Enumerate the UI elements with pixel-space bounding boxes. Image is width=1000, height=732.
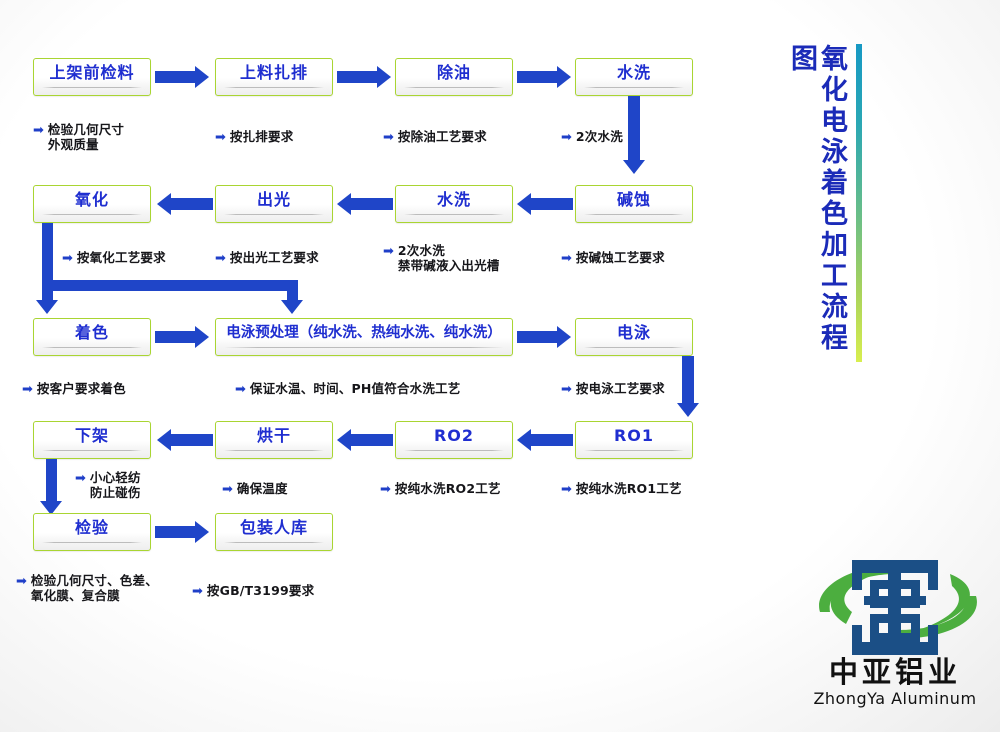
box-underline [584,214,684,215]
arrowhead-yanghua-zhuose [36,300,58,314]
logo-text-en: ZhongYa Aluminum [800,690,990,708]
arrow-bullet-icon: ➡ [380,482,391,497]
note-jianyanjihechicun: ➡ 检验几何尺寸外观质量 [33,122,124,152]
arrow-bullet-icon: ➡ [235,382,246,397]
arrow-bullet-icon: ➡ [75,471,86,486]
process-box-shangjiaqianjianliao[interactable]: 上架前检料 [33,58,151,96]
note-quebaowendu: ➡ 确保温度 [222,481,288,497]
note-text: 按GB/T3199要求 [207,583,314,598]
connector-ro1-ro2 [531,434,573,446]
note-text: 按出光工艺要求 [230,250,319,265]
box-underline [404,87,504,88]
box-label: 氧化 [75,190,109,210]
arrowhead-2-3 [377,66,391,88]
connector-3-4 [517,71,559,83]
process-box-zhuose[interactable]: 着色 [33,318,151,356]
box-label: RO1 [614,426,654,446]
connector-shuixi-jianshi [628,96,640,162]
arrowhead-3-4 [557,66,571,88]
arrow-bullet-icon: ➡ [561,482,572,497]
process-box-dianyong[interactable]: 电泳 [575,318,693,356]
connector-honggan-xiajia [171,434,213,446]
arrowhead-1-2 [195,66,209,88]
note-text: 2次水洗禁带碱液入出光槽 [398,243,500,273]
box-label: 水洗 [617,63,651,83]
note-text: 按纯水洗RO2工艺 [395,481,501,496]
note-anchuyougongyiyaoqiu: ➡ 按除油工艺要求 [383,129,487,145]
arrowhead-jianshi-shuixi2 [517,193,531,215]
connector-1-2 [155,71,197,83]
box-label: RO2 [434,426,474,446]
box-label: 水洗 [437,190,471,210]
arrowhead-zhuose-dianyongyuchuli [195,326,209,348]
note-anchunshuixiro2: ➡ 按纯水洗RO2工艺 [380,481,501,497]
arrowhead-shuixi2-chuguang [337,193,351,215]
note-anchunshuixiro1: ➡ 按纯水洗RO1工艺 [561,481,682,497]
note-jianyanjihechicunsecha: ➡ 检验几何尺寸、色差、氧化膜、复合膜 [16,573,158,603]
note-text: 按纯水洗RO1工艺 [576,481,682,496]
arrow-bullet-icon: ➡ [222,482,233,497]
note-text: 按电泳工艺要求 [576,381,665,396]
connector-xiajia-jianyan [46,459,57,506]
box-underline [224,347,504,348]
note-text: 检验几何尺寸、色差、氧化膜、复合膜 [31,573,158,603]
arrowhead-shuixi-jianshi [623,160,645,174]
note-text: 确保温度 [237,481,288,496]
arrow-bullet-icon: ➡ [383,244,394,259]
box-underline [42,450,142,451]
process-box-shuixi-1[interactable]: 水洗 [575,58,693,96]
arrow-bullet-icon: ➡ [16,574,27,589]
connector-zhuose-dianyongyuchuli [155,331,197,343]
note-andianyonggongyiyaoqiu: ➡ 按电泳工艺要求 [561,381,665,397]
arrow-bullet-icon: ➡ [383,130,394,145]
box-label: 电泳预处理（纯水洗、热纯水洗、纯水洗） [226,323,502,343]
process-box-chuyou[interactable]: 除油 [395,58,513,96]
arrow-bullet-icon: ➡ [215,251,226,266]
arrow-bullet-icon: ➡ [62,251,73,266]
box-label: 着色 [75,323,109,343]
note-text: 保证水温、时间、PH值符合水洗工艺 [250,381,461,396]
process-box-shangliaozhapai[interactable]: 上料扎排 [215,58,333,96]
process-box-ro2[interactable]: RO2 [395,421,513,459]
box-underline [584,87,684,88]
arrow-bullet-icon: ➡ [561,251,572,266]
box-label: 烘干 [257,426,291,446]
arrowhead-jianyan-baozhuang [195,521,209,543]
arrow-bullet-icon: ➡ [215,130,226,145]
note-2cishuixi-jinbandai: ➡ 2次水洗禁带碱液入出光槽 [383,243,500,273]
logo-mark-icon [800,556,990,661]
note-text: 按碱蚀工艺要求 [576,250,665,265]
chart-title-group: 氧化电泳着色加工流程图 [786,44,862,362]
arrowhead-dianyong-ro1 [677,403,699,417]
box-underline [404,450,504,451]
process-box-shuixi-2[interactable]: 水洗 [395,185,513,223]
note-anchuguanggongyiyaoqiu: ➡ 按出光工艺要求 [215,250,319,266]
box-underline [42,214,142,215]
arrow-bullet-icon: ➡ [22,382,33,397]
note-baozhengshuiwen: ➡ 保证水温、时间、PH值符合水洗工艺 [235,381,460,397]
note-ankehuyaoqiuzhuose: ➡ 按客户要求着色 [22,381,126,397]
box-label: 下架 [75,426,109,446]
note-text: 按客户要求着色 [37,381,126,396]
process-box-dianyongyuchuli[interactable]: 电泳预处理（纯水洗、热纯水洗、纯水洗） [215,318,513,356]
note-xiaoxinqingfang: ➡ 小心轻纺防止碰伤 [75,470,141,500]
connector-yanghua-zhuose [42,223,53,303]
arrowhead-dianyongyuchuli-dianyong [557,326,571,348]
arrowhead-honggan-xiajia [157,429,171,451]
logo-text-cn: 中亚铝业 [800,656,990,688]
arrowhead-yanghua-dianyongyuchuli [281,300,303,314]
arrow-bullet-icon: ➡ [192,584,203,599]
connector-shuixi2-chuguang [351,198,393,210]
note-text: 小心轻纺防止碰伤 [90,470,141,500]
arrow-bullet-icon: ➡ [561,130,572,145]
note-text: 检验几何尺寸外观质量 [48,122,124,152]
connector-jianshi-shuixi2 [531,198,573,210]
box-label: 电泳 [617,323,651,343]
process-box-yanghua[interactable]: 氧化 [33,185,151,223]
connector-2-3 [337,71,379,83]
page-title: 氧化电泳着色加工流程图 [786,44,846,362]
box-underline [224,87,324,88]
note-2cishuixi-1: ➡ 2次水洗 [561,129,623,145]
connector-dianyongyuchuli-dianyong [517,331,559,343]
process-box-jianshi[interactable]: 碱蚀 [575,185,693,223]
box-underline [584,450,684,451]
box-underline [404,214,504,215]
note-angbt3199: ➡ 按GB/T3199要求 [192,583,314,599]
note-text: 按除油工艺要求 [398,129,487,144]
box-underline [224,450,324,451]
flowchart-page: 上架前检料 上料扎排 除油 水洗 ➡ 检验几何尺寸外观质量 ➡ 按扎排要求 ➡ … [0,0,1000,732]
arrowhead-ro2-honggan [337,429,351,451]
box-underline [584,347,684,348]
connector-ro2-honggan [351,434,393,446]
box-underline [42,87,142,88]
note-text: 按氧化工艺要求 [77,250,166,265]
process-box-jianyan[interactable]: 检验 [33,513,151,551]
title-accent-bar [856,44,862,362]
box-underline [224,214,324,215]
box-label: 包装人库 [240,518,308,538]
box-label: 上架前检料 [49,63,134,83]
note-text: 2次水洗 [576,129,623,144]
box-label: 上料扎排 [240,63,308,83]
arrowhead-ro1-ro2 [517,429,531,451]
connector-chuguang-yanghua [171,198,213,210]
arrow-bullet-icon: ➡ [561,382,572,397]
connector-yanghua-dianyongyuchuli-h [42,280,298,291]
connector-jianyan-baozhuang [155,526,197,538]
arrow-bullet-icon: ➡ [33,123,44,138]
note-anzhapaiyaoqiu: ➡ 按扎排要求 [215,129,293,145]
note-anjianshigongyiyaoqiu: ➡ 按碱蚀工艺要求 [561,250,665,266]
note-anyanghuagongyiyaoqiu: ➡ 按氧化工艺要求 [62,250,166,266]
box-underline [224,542,324,543]
box-label: 检验 [75,518,109,538]
arrowhead-chuguang-yanghua [157,193,171,215]
process-box-baozhuangruku[interactable]: 包装人库 [215,513,333,551]
process-box-xiajia[interactable]: 下架 [33,421,151,459]
box-underline [42,542,142,543]
note-text: 按扎排要求 [230,129,294,144]
company-logo: 中亚铝业 ZhongYa Aluminum [800,556,990,716]
process-box-ro1[interactable]: RO1 [575,421,693,459]
process-box-honggan[interactable]: 烘干 [215,421,333,459]
process-box-chuguang[interactable]: 出光 [215,185,333,223]
box-label: 除油 [437,63,471,83]
box-underline [42,347,142,348]
box-label: 碱蚀 [617,190,651,210]
box-label: 出光 [257,190,291,210]
connector-dianyong-ro1 [682,356,694,408]
